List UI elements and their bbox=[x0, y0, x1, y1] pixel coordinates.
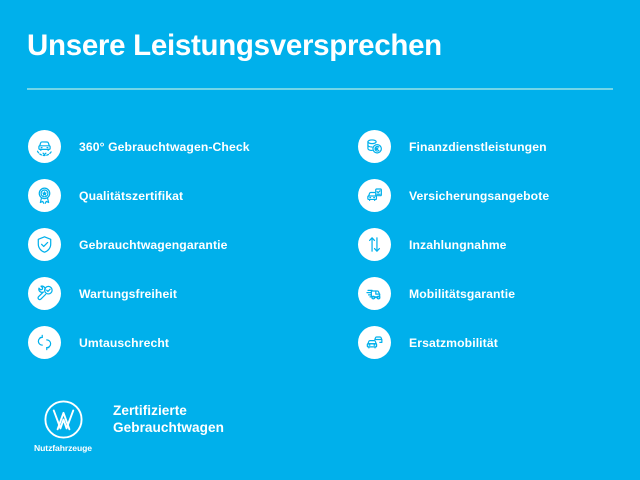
benefit-label: Qualitätszertifikat bbox=[79, 189, 183, 203]
arrows-up-down-icon bbox=[358, 228, 391, 261]
award-rosette-icon bbox=[28, 179, 61, 212]
brand-claim-line2: Gebrauchtwagen bbox=[113, 419, 224, 436]
brand-lockup: Nutzfahrzeuge Zertifizierte Gebrauchtwag… bbox=[29, 398, 224, 453]
wrench-check-icon bbox=[28, 277, 61, 310]
title-divider bbox=[27, 88, 613, 90]
benefit-item: Versicherungsangebote bbox=[358, 171, 640, 220]
benefit-item: 360° Gebrauchtwagen-Check bbox=[28, 122, 318, 171]
benefit-item: Mobilitätsgarantie bbox=[358, 269, 640, 318]
benefit-label: Ersatzmobilität bbox=[409, 336, 498, 350]
volkswagen-logo-icon bbox=[42, 398, 85, 441]
benefit-label: Wartungsfreiheit bbox=[79, 287, 177, 301]
car-document-check-icon bbox=[358, 179, 391, 212]
benefit-label: Umtauschrecht bbox=[79, 336, 169, 350]
benefit-item: Wartungsfreiheit bbox=[28, 269, 318, 318]
vw-subbrand-label: Nutzfahrzeuge bbox=[34, 443, 92, 453]
brand-claim-line1: Zertifizierte bbox=[113, 402, 224, 419]
benefits-column-right: Finanzdienstleistungen Versicherungsange… bbox=[358, 122, 640, 367]
benefit-item: Gebrauchtwagengarantie bbox=[28, 220, 318, 269]
benefit-label: Gebrauchtwagengarantie bbox=[79, 238, 228, 252]
brand-claim: Zertifizierte Gebrauchtwagen bbox=[113, 402, 224, 436]
tow-van-icon bbox=[358, 277, 391, 310]
two-cars-icon bbox=[358, 326, 391, 359]
volkswagen-logo-block: Nutzfahrzeuge bbox=[29, 398, 97, 453]
exchange-arrows-icon bbox=[28, 326, 61, 359]
coins-euro-icon bbox=[358, 130, 391, 163]
benefit-label: 360° Gebrauchtwagen-Check bbox=[79, 140, 250, 154]
shield-check-icon bbox=[28, 228, 61, 261]
benefits-column-left: 360° Gebrauchtwagen-Check Qualitätszerti… bbox=[28, 122, 318, 367]
slide-root: Unsere Leistungsversprechen 360° Gebrauc… bbox=[0, 0, 640, 480]
benefit-item: Finanzdienstleistungen bbox=[358, 122, 640, 171]
benefit-item: Ersatzmobilität bbox=[358, 318, 640, 367]
benefit-label: Inzahlungnahme bbox=[409, 238, 507, 252]
benefit-label: Mobilitätsgarantie bbox=[409, 287, 515, 301]
benefit-label: Versicherungsangebote bbox=[409, 189, 549, 203]
benefit-label: Finanzdienstleistungen bbox=[409, 140, 547, 154]
benefit-item: Umtauschrecht bbox=[28, 318, 318, 367]
car-check-360-icon bbox=[28, 130, 61, 163]
benefit-item: Inzahlungnahme bbox=[358, 220, 640, 269]
benefit-item: Qualitätszertifikat bbox=[28, 171, 318, 220]
page-title: Unsere Leistungsversprechen bbox=[27, 28, 617, 64]
